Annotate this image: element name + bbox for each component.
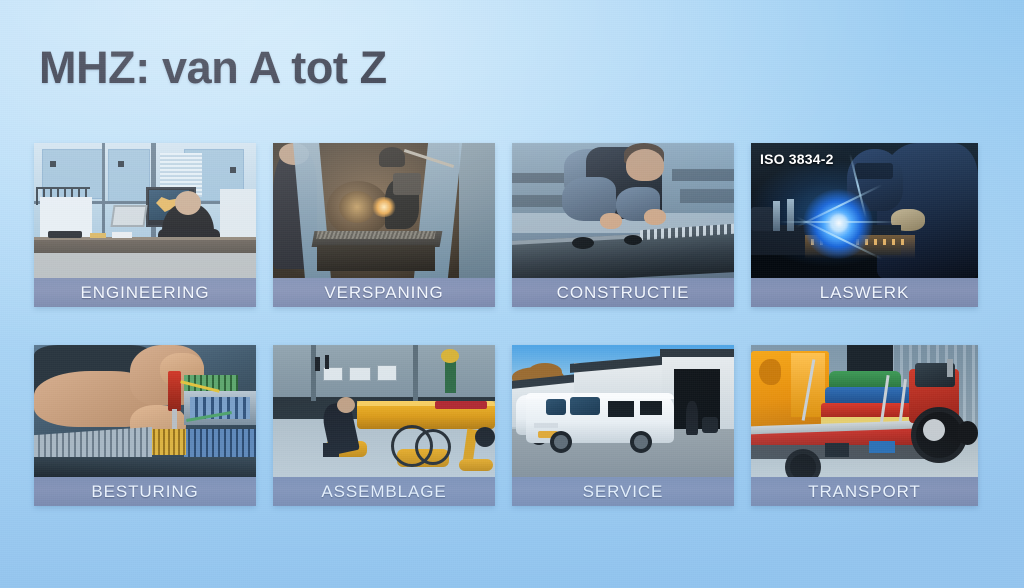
tile-assemblage-photo (273, 345, 495, 477)
tile-verspaning-caption: VERSPANING (273, 278, 495, 307)
tile-engineering-photo (34, 143, 256, 278)
tile-besturing-caption: BESTURING (34, 477, 256, 506)
tile-besturing-photo (34, 345, 256, 477)
tile-engineering-caption: ENGINEERING (34, 278, 256, 307)
tile-verspaning[interactable]: VERSPANING (273, 143, 495, 307)
tile-service-caption: SERVICE (512, 477, 734, 506)
tile-laswerk-caption: LASWERK (751, 278, 978, 307)
page-title: MHZ: van A tot Z (39, 42, 387, 94)
tile-laswerk[interactable]: ISO 3834-2 LASWERK (751, 143, 978, 307)
tile-transport-photo (751, 345, 978, 477)
tile-constructie[interactable]: CONSTRUCTIE (512, 143, 734, 307)
tile-transport-caption: TRANSPORT (751, 477, 978, 506)
tile-service-photo (512, 345, 734, 477)
tile-assemblage[interactable]: ASSEMBLAGE (273, 345, 495, 506)
tile-assemblage-caption: ASSEMBLAGE (273, 477, 495, 506)
tile-constructie-photo (512, 143, 734, 278)
tile-transport[interactable]: TRANSPORT (751, 345, 978, 506)
iso-badge: ISO 3834-2 (760, 151, 834, 167)
tile-verspaning-photo (273, 143, 495, 278)
tile-laswerk-photo: ISO 3834-2 (751, 143, 978, 278)
tile-engineering[interactable]: ENGINEERING (34, 143, 256, 307)
tile-service[interactable]: SERVICE (512, 345, 734, 506)
tile-constructie-caption: CONSTRUCTIE (512, 278, 734, 307)
presentation-slide: MHZ: van A tot Z (0, 0, 1024, 588)
tile-besturing[interactable]: BESTURING (34, 345, 256, 506)
